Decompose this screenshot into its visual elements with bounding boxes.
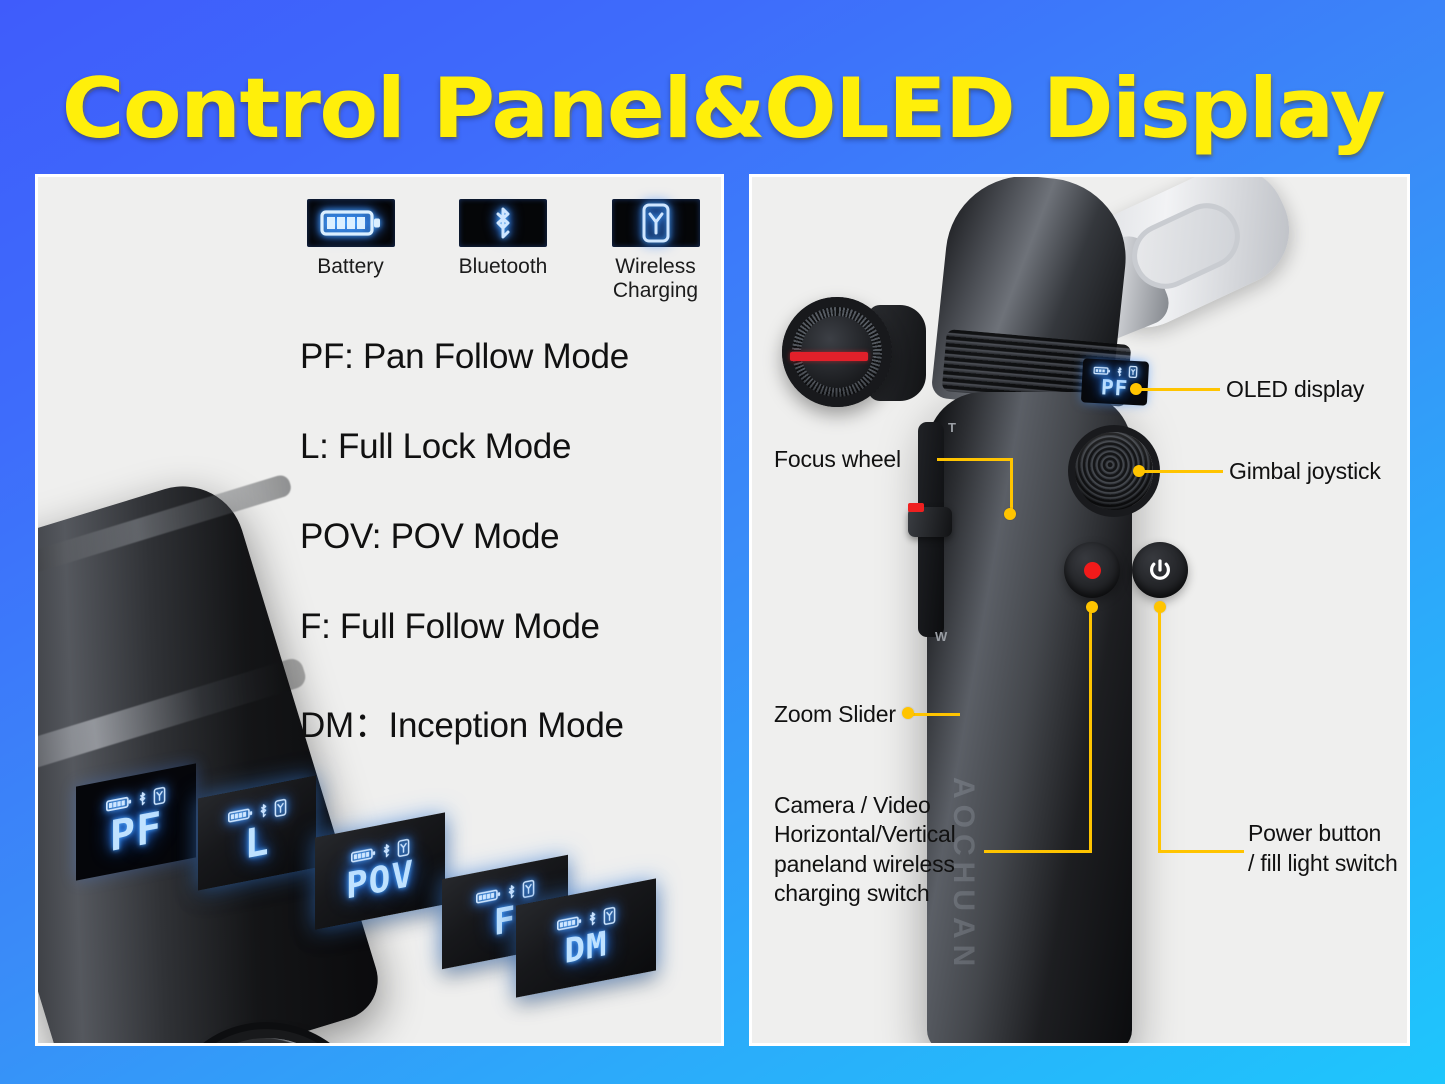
record-button[interactable] xyxy=(1064,542,1120,598)
callout-oled-display: OLED display xyxy=(1226,375,1364,403)
legend-item-wireless-charging: Wireless Charging xyxy=(593,199,718,304)
wireless-charging-tile xyxy=(612,199,700,247)
legend-label-bluetooth: Bluetooth xyxy=(459,255,548,279)
leader-focus-wheel-v xyxy=(1010,458,1013,514)
left-panel: Battery Bluetooth Wireless Charging xyxy=(35,174,724,1046)
wireless-charging-icon xyxy=(603,906,616,926)
right-panel: T W PF AOCHUAN Focus wheel OLED xyxy=(749,174,1410,1046)
bluetooth-icon xyxy=(137,790,148,808)
battery-tile xyxy=(307,199,395,247)
callout-camera-line1: Camera / Video xyxy=(774,792,931,818)
bluetooth-icon xyxy=(381,842,392,860)
leader-zoom-slider xyxy=(912,713,960,716)
wireless-charging-icon xyxy=(153,786,166,806)
wireless-charging-icon xyxy=(522,879,535,899)
page-title: Control Panel&OLED Display xyxy=(61,60,1383,157)
bluetooth-icon xyxy=(258,802,269,820)
callout-zoom-slider: Zoom Slider xyxy=(774,700,896,728)
power-button[interactable] xyxy=(1132,542,1188,598)
callout-camera-line3: paneland wireless xyxy=(774,851,955,877)
battery-icon xyxy=(1093,365,1110,375)
leader-camera-h xyxy=(984,850,1092,853)
callout-camera-line4: charging switch xyxy=(774,880,930,906)
legend-label-battery: Battery xyxy=(317,255,384,279)
leader-oled-display xyxy=(1140,388,1220,391)
mode-item-l: L: Full Lock Mode xyxy=(300,427,720,467)
oled-mode-text: DM xyxy=(565,926,608,968)
bluetooth-icon xyxy=(490,204,516,242)
bluetooth-tile xyxy=(459,199,547,247)
callout-gimbal-joystick: Gimbal joystick xyxy=(1229,457,1381,485)
zoom-slider-indicator xyxy=(908,503,924,512)
wireless-charging-icon xyxy=(1128,366,1138,378)
oled-mode-text: PF xyxy=(110,805,163,857)
callout-camera-video-switch: Camera / Video Horizontal/Vertical panel… xyxy=(774,791,956,909)
legend-label-wireless-line1: Wireless xyxy=(615,255,696,278)
oled-mode-text: F xyxy=(494,901,517,941)
zoom-tele-label: T xyxy=(948,420,956,435)
dot-zoom-slider xyxy=(902,707,914,719)
bluetooth-icon xyxy=(587,910,598,928)
callout-power-button: Power button / fill light switch xyxy=(1248,819,1398,879)
bluetooth-icon xyxy=(1115,366,1124,377)
callout-camera-line2: Horizontal/Vertical xyxy=(774,821,956,847)
mode-item-pf: PF: Pan Follow Mode xyxy=(300,337,720,377)
bluetooth-icon xyxy=(506,883,517,901)
mode-list: PF: Pan Follow Mode L: Full Lock Mode PO… xyxy=(300,337,720,798)
device-oled-display: PF xyxy=(1081,358,1149,405)
zoom-wide-label: W xyxy=(935,629,947,644)
mode-item-f: F: Full Follow Mode xyxy=(300,607,720,647)
record-dot-icon xyxy=(1084,562,1101,579)
oled-status-icons xyxy=(1093,364,1138,378)
gimbal-device-illustration: T W PF AOCHUAN xyxy=(752,177,1410,1046)
leader-camera-v xyxy=(1089,607,1092,852)
power-icon xyxy=(1147,557,1173,583)
focus-wheel-indicator xyxy=(790,352,868,361)
leader-gimbal-joystick xyxy=(1143,470,1223,473)
wireless-charging-icon xyxy=(397,838,410,858)
oled-mode-text: L xyxy=(244,820,269,865)
leader-power-h xyxy=(1158,850,1244,853)
dot-focus-wheel xyxy=(1004,508,1016,520)
mode-item-dm: DM：Inception Mode xyxy=(300,697,720,748)
legend-label-wireless-line2: Charging xyxy=(613,279,698,302)
leader-power-v xyxy=(1158,607,1161,852)
legend-item-battery: Battery xyxy=(288,199,413,279)
battery-icon xyxy=(320,209,382,237)
legend-label-wireless-charging: Wireless Charging xyxy=(613,255,698,304)
icon-legend: Battery Bluetooth Wireless Charging xyxy=(288,199,718,324)
dot-camera-switch xyxy=(1086,601,1098,613)
wireless-charging-icon xyxy=(274,798,287,818)
device-oled-mode-text: PF xyxy=(1100,377,1128,399)
leader-focus-wheel-h xyxy=(937,458,1013,461)
legend-item-bluetooth: Bluetooth xyxy=(441,199,566,279)
wireless-charging-icon xyxy=(641,203,671,243)
page-header: Control Panel&OLED Display xyxy=(0,58,1445,158)
callout-focus-wheel: Focus wheel xyxy=(774,445,901,473)
callout-power-line2: / fill light switch xyxy=(1248,850,1398,876)
callout-power-line1: Power button xyxy=(1248,820,1381,846)
mode-item-pov: POV: POV Mode xyxy=(300,517,720,557)
